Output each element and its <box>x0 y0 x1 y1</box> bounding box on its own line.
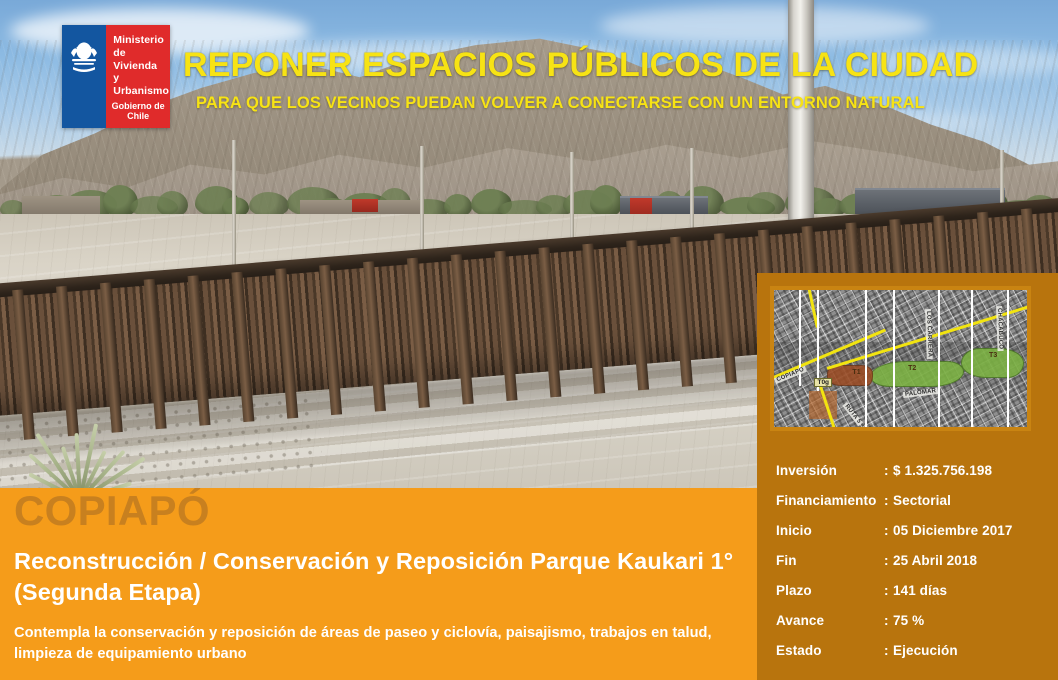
project-banner: COPIAPÓ Reconstrucción / Conservación y … <box>0 488 757 680</box>
map-road-white <box>938 290 940 427</box>
page-title: REPONER ESPACIOS PÚBLICOS DE LA CIUDAD <box>183 48 1043 82</box>
map-label-t2: T2 <box>908 365 916 372</box>
map-road-white <box>1007 290 1009 427</box>
poster-root: Ministerio de Vivienda y Urbanismo Gobie… <box>0 0 1058 680</box>
info-row-value: Ejecución <box>893 643 1048 658</box>
location-map-frame: T1 T2 T3 T0g COPIAPO LOS CARRERA CHACABU… <box>770 286 1031 431</box>
logo-red-field: Ministerio de Vivienda y Urbanismo Gobie… <box>106 25 170 128</box>
project-description: Contempla la conservación y reposición d… <box>14 623 754 665</box>
info-row-separator: : <box>884 463 893 478</box>
info-row-value: 141 días <box>893 583 1048 598</box>
info-row-value: 25 Abril 2018 <box>893 553 1048 568</box>
map-road-white <box>893 290 895 427</box>
red-structure <box>352 199 378 212</box>
info-row: Estado:Ejecución <box>776 643 1048 673</box>
map-label-t0g: T0g <box>814 378 832 387</box>
info-row-value: Sectorial <box>893 493 1048 508</box>
info-row-key: Fin <box>776 553 884 568</box>
info-row-value: $ 1.325.756.198 <box>893 463 1048 478</box>
chile-coat-of-arms-icon <box>67 39 101 75</box>
info-row-separator: : <box>884 583 893 598</box>
info-row-separator: : <box>884 493 893 508</box>
page-subtitle: PARA QUE LOS VECINOS PUEDAN VOLVER A CON… <box>196 95 1056 112</box>
location-map[interactable]: T1 T2 T3 T0g COPIAPO LOS CARRERA CHACABU… <box>774 290 1027 427</box>
info-row: Avance:75 % <box>776 613 1048 643</box>
logo-government-text: Gobierno de Chile <box>106 101 170 121</box>
info-row-value: 05 Diciembre 2017 <box>893 523 1048 538</box>
logo-blue-field <box>62 25 106 128</box>
project-title: Reconstrucción / Conservación y Reposici… <box>14 546 734 608</box>
info-row-key: Avance <box>776 613 884 628</box>
info-row-key: Financiamiento <box>776 493 884 508</box>
map-road-white <box>865 290 867 427</box>
tree <box>590 185 623 217</box>
project-info-panel: T1 T2 T3 T0g COPIAPO LOS CARRERA CHACABU… <box>757 273 1058 680</box>
map-road-white <box>971 290 973 427</box>
info-row-key: Inicio <box>776 523 884 538</box>
map-label-t1: T1 <box>852 369 860 376</box>
map-label-t3: T3 <box>989 352 997 359</box>
info-row-separator: : <box>884 613 893 628</box>
logo-ministry-text: Ministerio de Vivienda y Urbanismo <box>113 34 166 98</box>
info-row-key: Inversión <box>776 463 884 478</box>
info-row: Inicio:05 Diciembre 2017 <box>776 523 1048 553</box>
logo-line-3: Urbanismo <box>113 85 166 98</box>
info-row: Plazo:141 días <box>776 583 1048 613</box>
info-row-separator: : <box>884 523 893 538</box>
map-zone-t2 <box>870 361 964 387</box>
project-info-rows: Inversión:$ 1.325.756.198Financiamiento:… <box>776 463 1048 673</box>
info-row: Financiamiento:Sectorial <box>776 493 1048 523</box>
info-row-key: Plazo <box>776 583 884 598</box>
info-row-separator: : <box>884 643 893 658</box>
info-row-key: Estado <box>776 643 884 658</box>
minvu-logo: Ministerio de Vivienda y Urbanismo Gobie… <box>62 25 170 128</box>
info-row-value: 75 % <box>893 613 1048 628</box>
logo-line-2: Vivienda y <box>113 60 166 86</box>
info-row: Inversión:$ 1.325.756.198 <box>776 463 1048 493</box>
map-street-label: CHACABUCO <box>996 306 1004 351</box>
info-row-separator: : <box>884 553 893 568</box>
map-road-white <box>817 290 819 391</box>
city-name: COPIAPÓ <box>14 490 210 532</box>
logo-line-1: Ministerio de <box>113 34 166 60</box>
info-row: Fin:25 Abril 2018 <box>776 553 1048 583</box>
